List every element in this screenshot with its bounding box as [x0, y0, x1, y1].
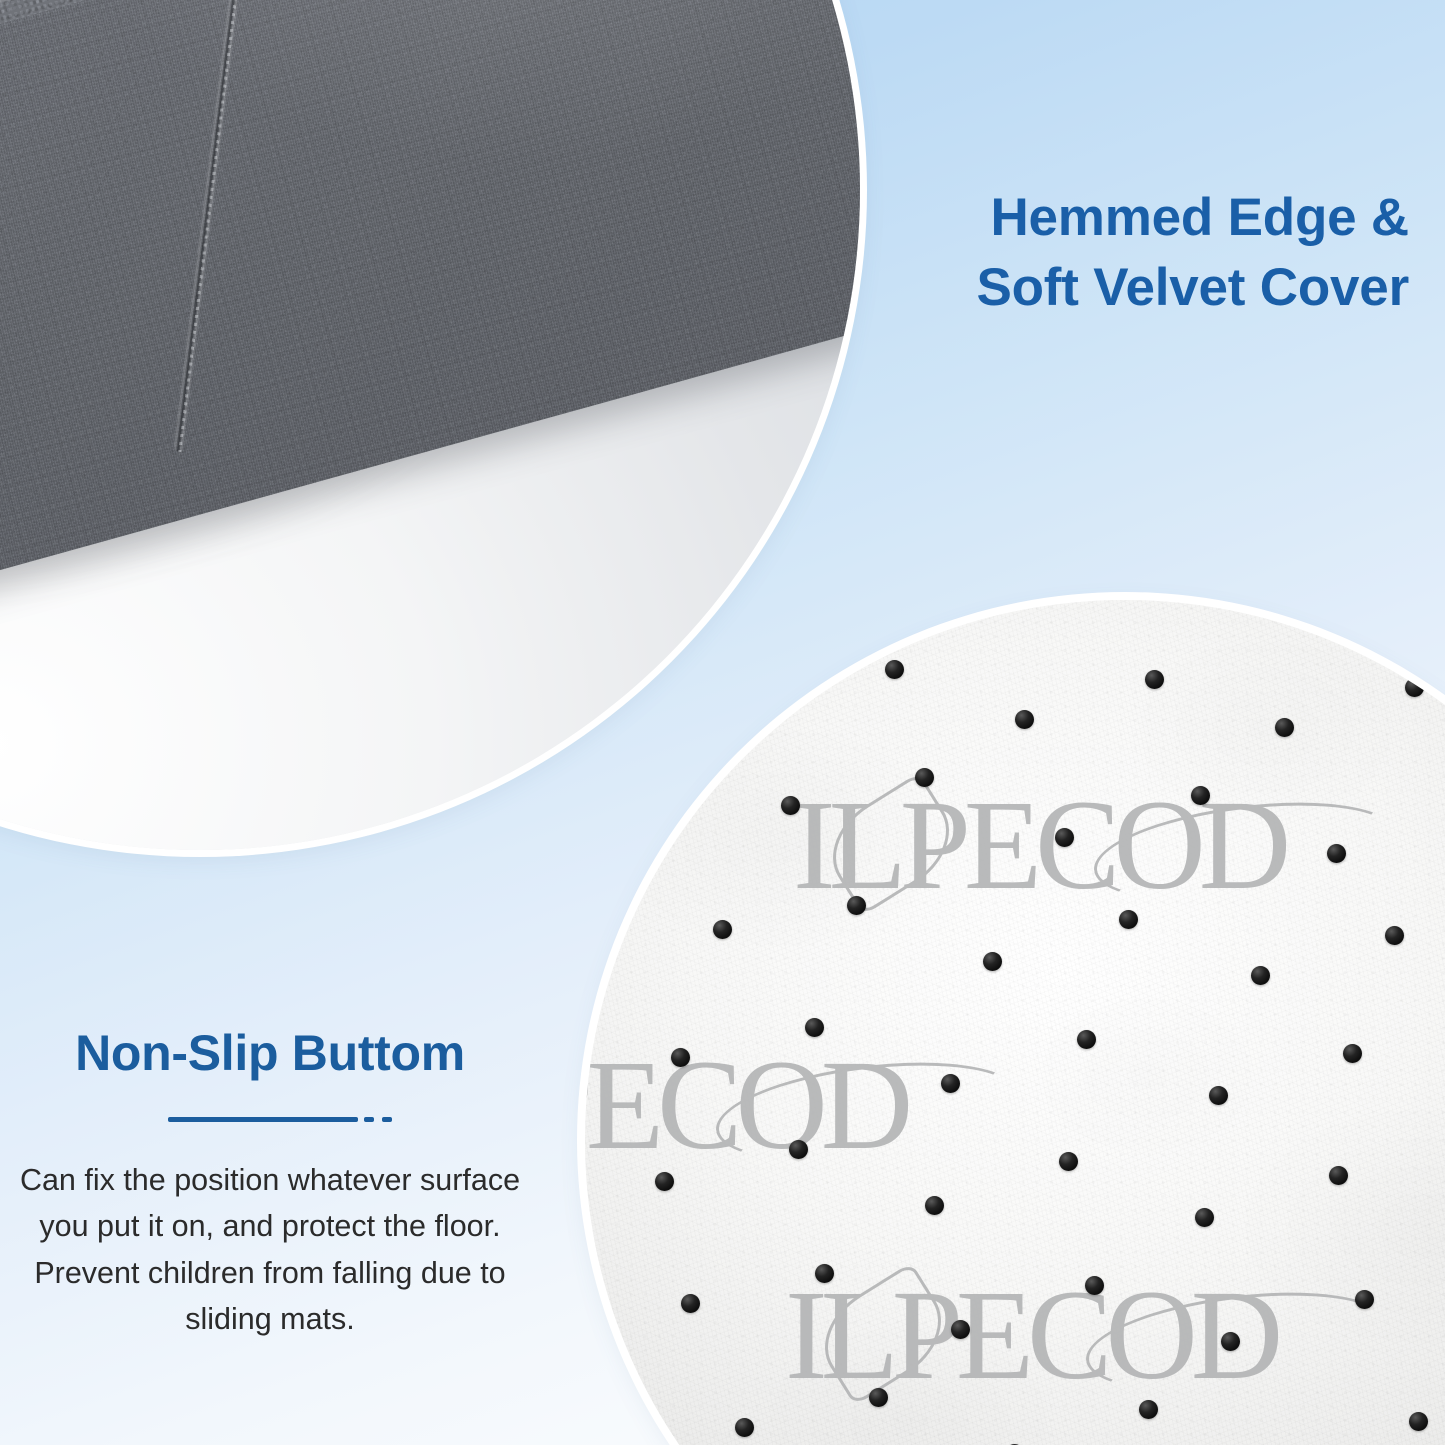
feature-body-line-3: Prevent children from falling due to — [18, 1250, 522, 1296]
feature-body-line-2: you put it on, and protect the floor. — [18, 1203, 522, 1249]
feature-block: Non-Slip Buttom Can fix the position wha… — [0, 1026, 540, 1342]
silicone-grip-dots — [585, 600, 1445, 1445]
headline-line-2: Soft Velvet Cover — [769, 253, 1409, 323]
product-feature-graphic: ILPECOD ILPECOD ILPECOD — [0, 0, 1445, 1445]
divider-dash-2 — [382, 1117, 392, 1122]
headline-line-1: Hemmed Edge & — [769, 183, 1409, 253]
feature-description: Can fix the position whatever surface yo… — [0, 1157, 540, 1342]
divider-bar — [168, 1117, 358, 1122]
non-slip-mat-photo: ILPECOD ILPECOD ILPECOD — [585, 600, 1445, 1445]
divider-dash-1 — [364, 1117, 374, 1122]
feature-body-line-1: Can fix the position whatever surface — [18, 1157, 522, 1203]
headline: Hemmed Edge & Soft Velvet Cover — [769, 183, 1409, 324]
feature-body-line-4: sliding mats. — [18, 1296, 522, 1342]
divider — [0, 1117, 540, 1123]
feature-title: Non-Slip Buttom — [0, 1026, 540, 1081]
